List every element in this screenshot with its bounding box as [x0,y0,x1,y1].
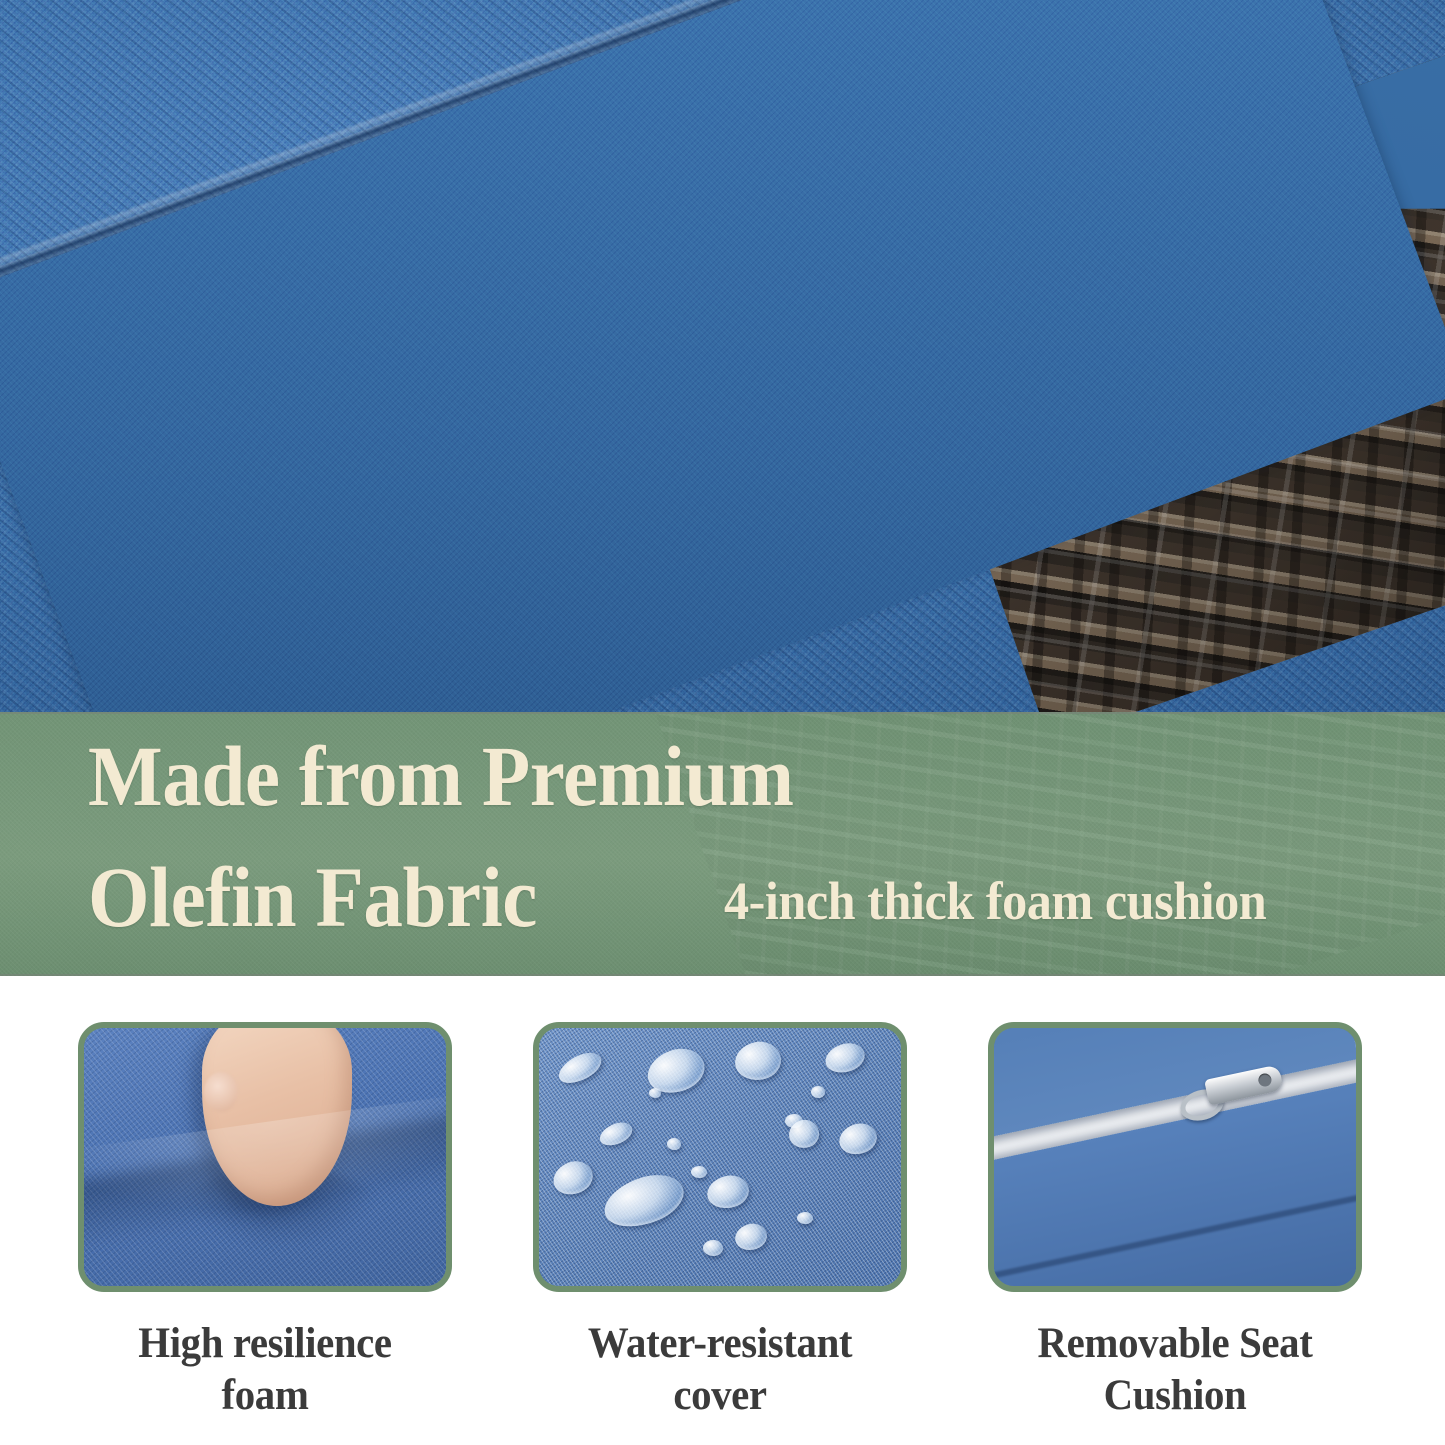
feature-thumbnail-water [533,1022,907,1292]
caption-line-2: foam [87,1370,442,1422]
water-droplet [667,1138,681,1150]
water-droplet [797,1212,813,1224]
caption-line-2: cover [542,1370,897,1422]
feature-row: High resilience foam Water-resistant cov… [0,1010,1445,1445]
headline-line-1: Made from Premium [88,733,794,819]
hand-knuckle-highlight [204,1072,238,1112]
water-droplet [691,1166,707,1178]
caption-line-1: Water-resistant [542,1318,897,1370]
feature-item-removable-seat-cushion: Removable Seat Cushion [988,1022,1362,1423]
feature-thumbnail-foam [78,1022,452,1292]
caption-line-1: Removable Seat [997,1318,1352,1370]
water-droplet [811,1086,825,1098]
caption-line-1: High resilience [87,1318,442,1370]
water-droplet [649,1088,661,1098]
feature-item-high-resilience-foam: High resilience foam [78,1022,452,1423]
water-droplet [703,1240,723,1256]
feature-caption-water: Water-resistant cover [542,1318,897,1423]
feature-thumbnail-zipper [988,1022,1362,1292]
feature-caption-foam: High resilience foam [87,1318,442,1423]
feature-item-water-resistant-cover: Water-resistant cover [533,1022,907,1423]
banner-top-rule [0,712,1445,714]
product-feature-page: Made from Premium Olefin Fabric 4-inch t… [0,0,1445,1445]
headline-line-2: Olefin Fabric [88,854,537,940]
banner-bottom-rule [0,974,1445,976]
caption-line-2: Cushion [997,1370,1352,1422]
headline-subline: 4-inch thick foam cushion [724,874,1266,928]
hero-product-photo [0,0,1445,714]
feature-caption-zipper: Removable Seat Cushion [997,1318,1352,1423]
